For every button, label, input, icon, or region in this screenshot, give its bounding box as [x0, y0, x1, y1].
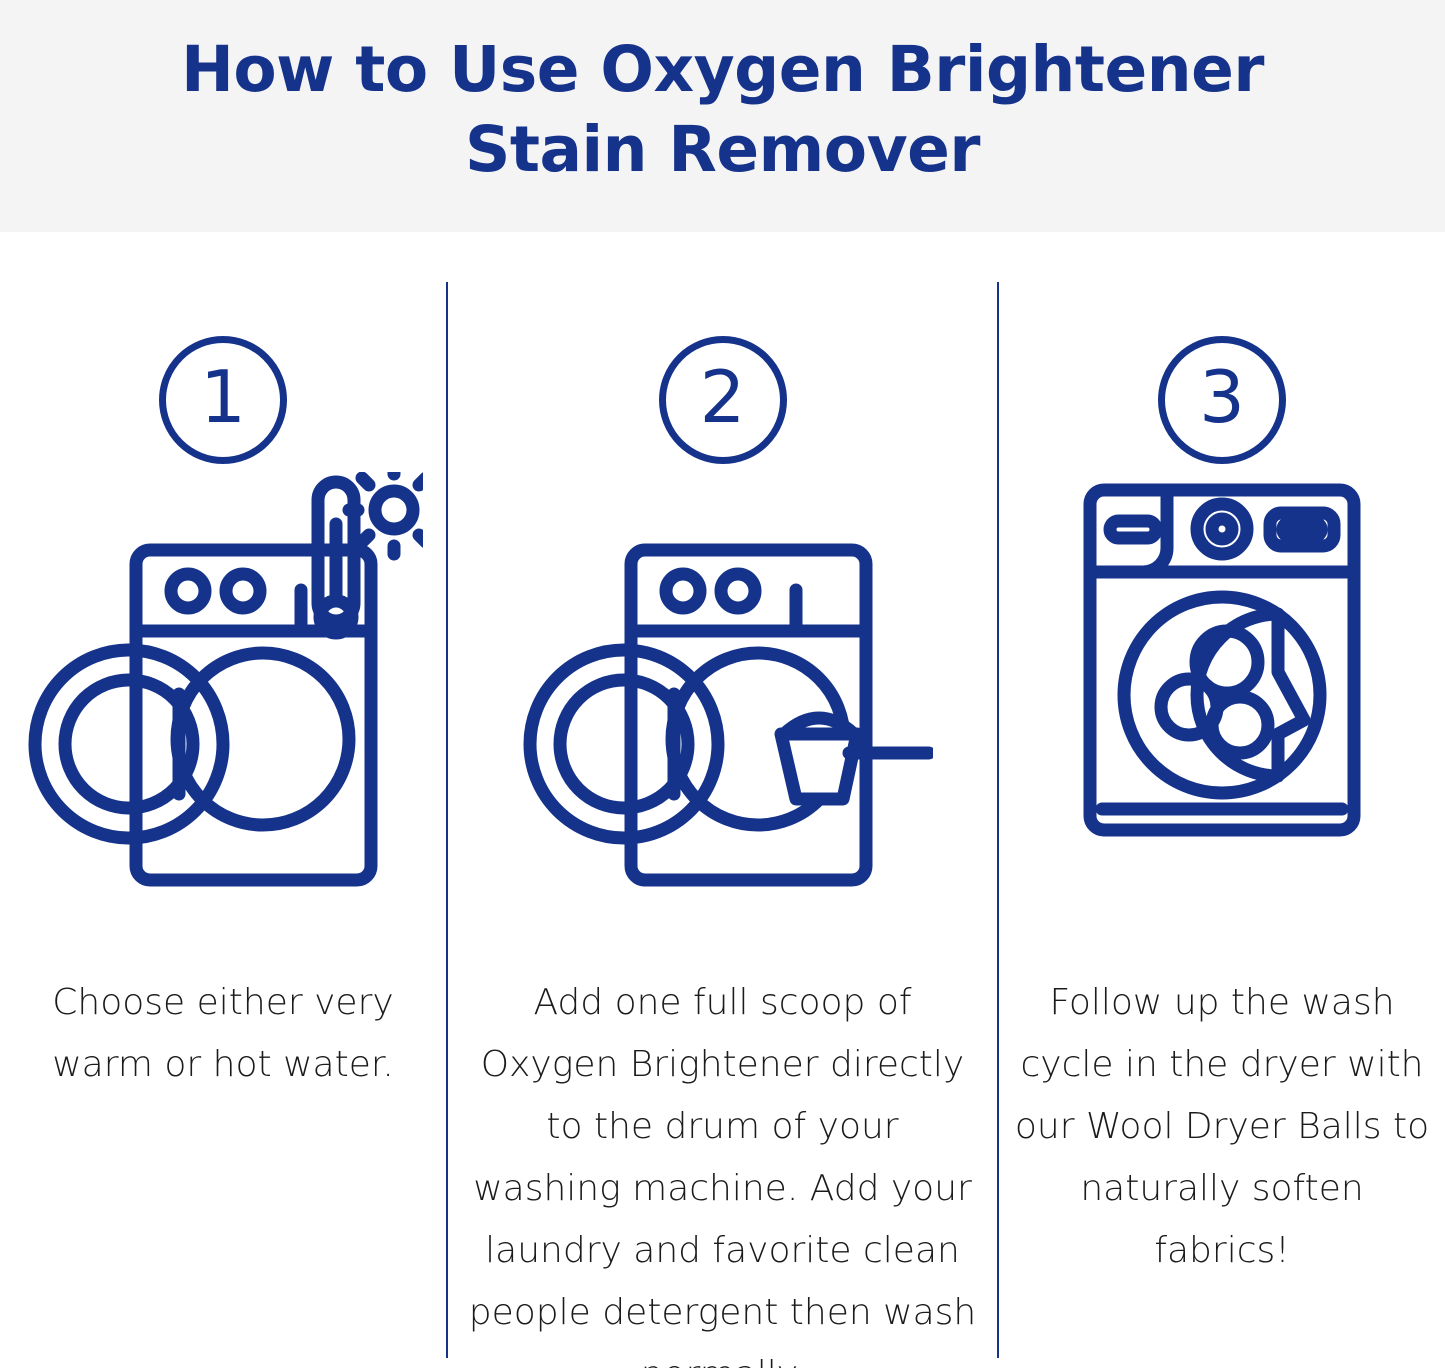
infographic-page: How to Use Oxygen Brightener Stain Remov…	[0, 0, 1445, 1368]
step-column-3: 3	[999, 282, 1445, 1362]
step-caption-3: Follow up the wash cycle in the dryer wi…	[999, 972, 1445, 1282]
step-badge-wrap-3: 3	[999, 332, 1445, 467]
step-illustration-wrap-1	[0, 472, 446, 932]
step-caption-1: Choose either very warm or hot water.	[0, 972, 446, 1096]
page-title: How to Use Oxygen Brightener Stain Remov…	[0, 30, 1445, 190]
page-title-line-1: How to Use Oxygen Brightener	[0, 30, 1445, 110]
step-column-2: 2	[448, 282, 997, 1362]
step-number-badge-1: 1	[159, 336, 287, 464]
page-title-line-2: Stain Remover	[0, 110, 1445, 190]
step-illustration-wrap-2	[448, 472, 997, 932]
step-number-badge-3: 3	[1158, 336, 1286, 464]
washing-machine-detergent-scoop-icon	[513, 472, 933, 892]
dryer-with-wool-dryer-balls-icon	[1072, 472, 1372, 892]
step-number-label-3: 3	[1199, 361, 1245, 433]
step-illustration-wrap-3	[999, 472, 1445, 932]
step-number-label-1: 1	[200, 361, 246, 433]
step-number-badge-2: 2	[659, 336, 787, 464]
step-badge-wrap-2: 2	[448, 332, 997, 467]
step-column-1: 1	[0, 282, 446, 1362]
step-caption-2: Add one full scoop of Oxygen Brightener …	[448, 972, 997, 1368]
step-badge-wrap-1: 1	[0, 332, 446, 467]
washing-machine-thermometer-sun-icon	[23, 472, 423, 892]
step-number-label-2: 2	[700, 361, 746, 433]
